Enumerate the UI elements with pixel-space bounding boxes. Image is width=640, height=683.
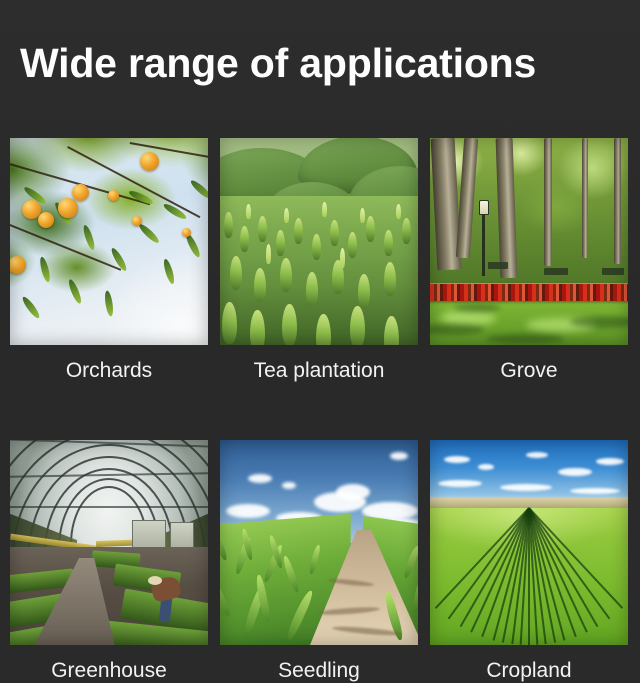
seedling-scene-image	[220, 440, 418, 645]
cloud	[390, 452, 408, 460]
page-title: Wide range of applications	[20, 38, 620, 88]
cloud	[570, 488, 620, 494]
park-bench	[488, 262, 508, 269]
cloud	[558, 468, 592, 476]
cloud	[500, 484, 552, 491]
cloud	[478, 464, 494, 470]
tea-plantation-scene-image	[220, 138, 418, 345]
application-showcase-panel: Wide range of applications	[0, 0, 640, 682]
orange-fruit	[108, 190, 119, 201]
gallery-item-label: Cropland	[430, 659, 628, 683]
orange-fruit	[58, 198, 78, 218]
cloud	[226, 504, 270, 518]
gallery-row: Orchards	[10, 138, 630, 383]
tree-trunk	[582, 138, 588, 258]
crop-field	[430, 508, 628, 645]
lamp-head-icon	[479, 200, 489, 215]
cloud	[336, 484, 370, 500]
orange-fruit	[182, 228, 191, 237]
flower-bed	[430, 284, 628, 301]
gallery-item-grove[interactable]: Grove	[430, 138, 628, 383]
cloud	[282, 482, 296, 489]
gallery-item-label: Grove	[430, 359, 628, 383]
gallery-row: Greenhouse	[10, 440, 630, 683]
lamp-post	[482, 212, 485, 276]
greenhouse-thumbnail[interactable]	[10, 440, 208, 645]
cloud	[248, 474, 272, 483]
application-gallery-grid: Orchards	[10, 138, 630, 683]
orange-fruit	[140, 152, 159, 171]
orange-fruit	[38, 212, 54, 228]
park-bench	[544, 268, 568, 275]
tree-canopy	[10, 138, 208, 316]
tea-plantation-thumbnail[interactable]	[220, 138, 418, 345]
grove-thumbnail[interactable]	[430, 138, 628, 345]
gallery-item-orchards[interactable]: Orchards	[10, 138, 208, 383]
cloud	[526, 452, 548, 458]
gallery-item-cropland[interactable]: Cropland	[430, 440, 628, 683]
tree-trunk	[614, 138, 621, 264]
cloud	[596, 458, 624, 465]
gallery-item-label: Seedling	[220, 659, 418, 683]
worker-hat	[148, 576, 162, 585]
cloud	[438, 480, 482, 487]
greenhouse-scene-image	[10, 440, 208, 645]
orchard-scene-image	[10, 138, 208, 345]
cloud	[444, 456, 470, 463]
gallery-item-seedling[interactable]: Seedling	[220, 440, 418, 683]
park-bench	[602, 268, 624, 275]
gallery-item-label: Orchards	[10, 359, 208, 383]
orchards-thumbnail[interactable]	[10, 138, 208, 345]
gallery-item-label: Tea plantation	[220, 359, 418, 383]
gallery-item-tea-plantation[interactable]: Tea plantation	[220, 138, 418, 383]
gallery-item-greenhouse[interactable]: Greenhouse	[10, 440, 208, 683]
grove-scene-image	[430, 138, 628, 345]
orange-fruit	[132, 216, 142, 226]
seedling-thumbnail[interactable]	[220, 440, 418, 645]
gallery-item-label: Greenhouse	[10, 659, 208, 683]
cropland-thumbnail[interactable]	[430, 440, 628, 645]
cropland-scene-image	[430, 440, 628, 645]
orange-fruit	[72, 184, 89, 201]
tree-trunk	[544, 138, 552, 266]
